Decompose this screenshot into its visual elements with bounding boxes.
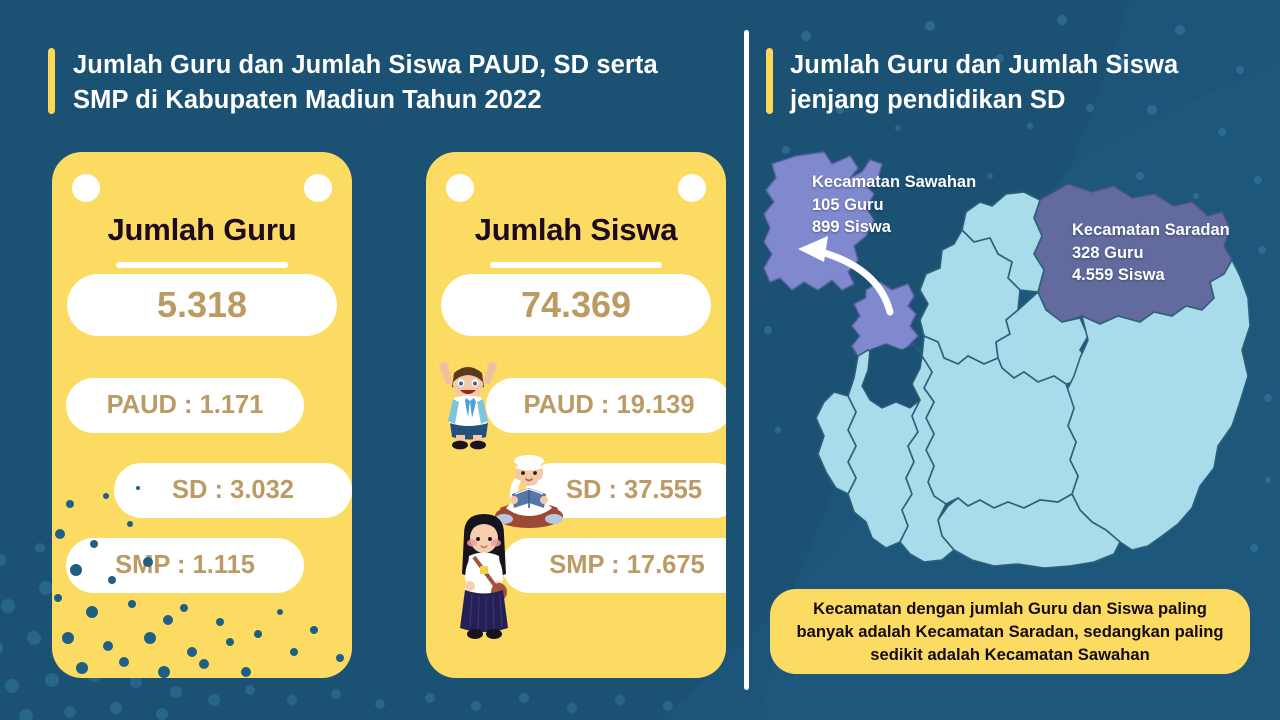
panel-divider bbox=[744, 30, 749, 690]
student-boy-icon bbox=[432, 355, 504, 450]
card-underline bbox=[490, 262, 662, 268]
infographic-canvas: Jumlah Guru dan Jumlah Siswa PAUD, SD se… bbox=[0, 0, 1280, 720]
map-region-dark bbox=[862, 344, 922, 408]
title-accent-bar bbox=[766, 48, 773, 114]
summary-note-box: Kecamatan dengan jumlah Guru dan Siswa p… bbox=[770, 589, 1250, 674]
card-punch-hole-left bbox=[72, 174, 100, 202]
stat-card-guru: Jumlah Guru 5.318 PAUD : 1.171 SD : 3.03… bbox=[52, 152, 352, 678]
card-punch-hole-right bbox=[304, 174, 332, 202]
siswa-total-value: 74.369 bbox=[441, 274, 711, 336]
card-punch-hole-left bbox=[446, 174, 474, 202]
map-label-saradan-siswa: 4.559 Siswa bbox=[1072, 264, 1230, 287]
student-girl-icon bbox=[448, 510, 520, 642]
map-label-saradan: Kecamatan Saradan 328 Guru 4.559 Siswa bbox=[1072, 219, 1230, 287]
summary-note-text: Kecamatan dengan jumlah Guru dan Siswa p… bbox=[784, 597, 1236, 666]
guru-paud-value: PAUD : 1.171 bbox=[66, 378, 304, 433]
card-underline bbox=[116, 262, 288, 268]
card-punch-hole-right bbox=[678, 174, 706, 202]
right-title-text: Jumlah Guru dan Jumlah Siswa jenjang pen… bbox=[790, 48, 1236, 118]
title-accent-bar bbox=[48, 48, 55, 114]
map-region-tail bbox=[816, 392, 856, 494]
card-heading-guru: Jumlah Guru bbox=[52, 212, 352, 248]
map-label-sawahan-siswa: 899 Siswa bbox=[812, 216, 976, 239]
siswa-smp-value: SMP : 17.675 bbox=[502, 538, 726, 593]
left-panel-title: Jumlah Guru dan Jumlah Siswa PAUD, SD se… bbox=[48, 48, 708, 118]
map-label-saradan-name: Kecamatan Saradan bbox=[1072, 219, 1230, 242]
map-label-sawahan-guru: 105 Guru bbox=[812, 194, 976, 217]
map-label-sawahan: Kecamatan Sawahan 105 Guru 899 Siswa bbox=[812, 171, 976, 239]
map-label-saradan-guru: 328 Guru bbox=[1072, 242, 1230, 265]
guru-smp-value: SMP : 1.115 bbox=[66, 538, 304, 593]
siswa-paud-value: PAUD : 19.139 bbox=[486, 378, 726, 433]
left-title-text: Jumlah Guru dan Jumlah Siswa PAUD, SD se… bbox=[73, 48, 708, 118]
map-label-sawahan-name: Kecamatan Sawahan bbox=[812, 171, 976, 194]
right-panel-title: Jumlah Guru dan Jumlah Siswa jenjang pen… bbox=[766, 48, 1236, 118]
card-heading-siswa: Jumlah Siswa bbox=[426, 212, 726, 248]
guru-sd-value: SD : 3.032 bbox=[114, 463, 352, 518]
guru-total-value: 5.318 bbox=[67, 274, 337, 336]
